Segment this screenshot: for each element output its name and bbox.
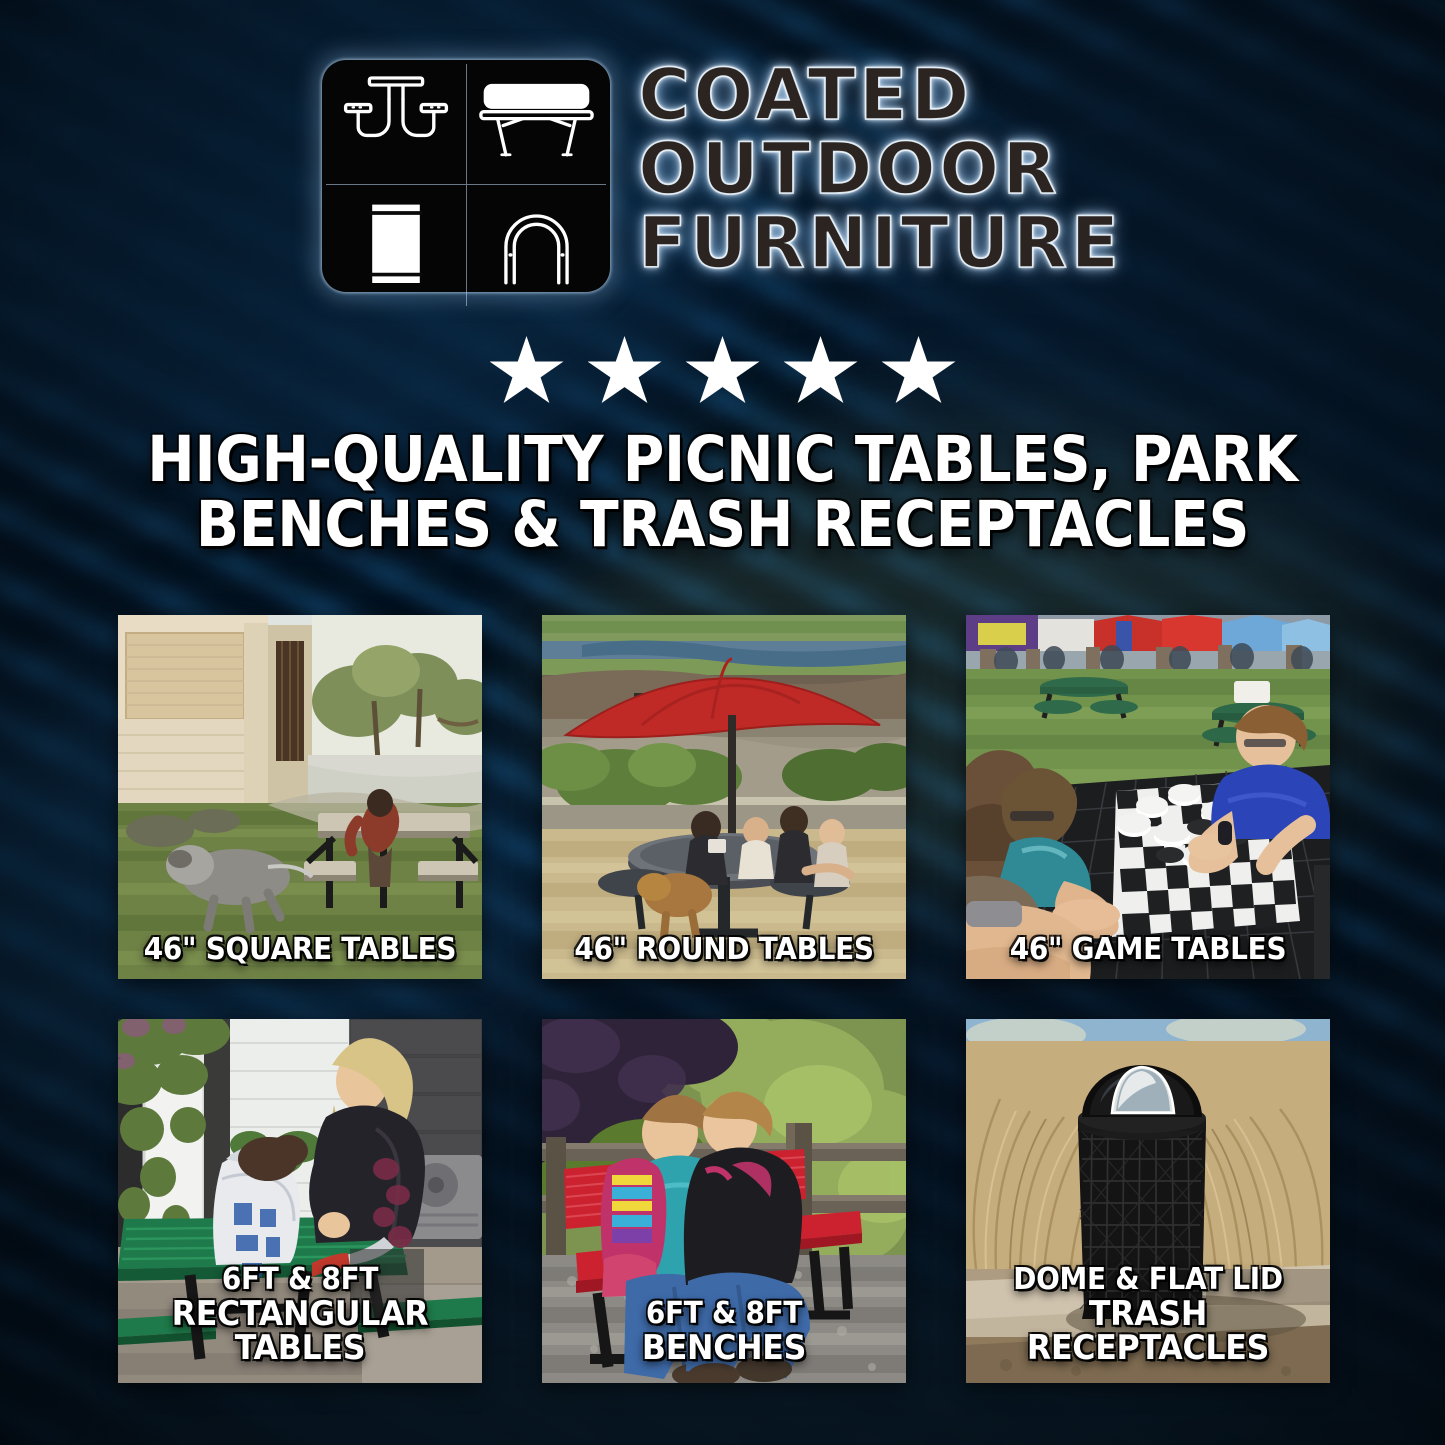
product-grid: 46" SQUARE TABLES bbox=[118, 615, 1330, 1383]
product-caption: 6FT & 8FT RECTANGULAR TABLES bbox=[136, 1265, 463, 1365]
product-tile-round-tables[interactable]: 46" ROUND TABLES bbox=[542, 615, 906, 979]
product-caption: 46" SQUARE TABLES bbox=[136, 935, 463, 965]
company-logo-mark bbox=[322, 60, 610, 292]
caption-line-2: TRASH RECEPTACLES bbox=[984, 1297, 1311, 1365]
product-tile-rectangular-tables[interactable]: 6FT & 8FT RECTANGULAR TABLES bbox=[118, 1019, 482, 1383]
poster-canvas: COATED OUTDOOR FURNITURE HIGH-QUALITY PI… bbox=[0, 0, 1445, 1445]
caption-line-1: 46" SQUARE TABLES bbox=[144, 932, 456, 967]
trash-receptacle-icon bbox=[326, 184, 466, 305]
page-title: HIGH-QUALITY PICNIC TABLES, PARK BENCHES… bbox=[126, 428, 1319, 558]
caption-line-1: 46" ROUND TABLES bbox=[574, 932, 873, 967]
brand-wordmark: COATED OUTDOOR FURNITURE bbox=[638, 60, 1122, 278]
caption-line-1: DOME & FLAT LID bbox=[1013, 1262, 1283, 1297]
star-icon bbox=[490, 336, 564, 408]
product-tile-game-tables[interactable]: 46" GAME TABLES bbox=[966, 615, 1330, 979]
headline-line-1: HIGH-QUALITY PICNIC TABLES, PARK bbox=[147, 423, 1297, 496]
brand-header: COATED OUTDOOR FURNITURE bbox=[0, 60, 1445, 292]
brand-line-1: COATED bbox=[638, 62, 1122, 130]
star-icon bbox=[686, 336, 760, 408]
caption-line-1: 46" GAME TABLES bbox=[1010, 932, 1287, 967]
product-photo bbox=[966, 615, 1330, 979]
bike-rack-arch-icon bbox=[466, 184, 606, 305]
product-caption: 6FT & 8FT BENCHES bbox=[560, 1299, 887, 1365]
product-tile-benches[interactable]: 6FT & 8FT BENCHES bbox=[542, 1019, 906, 1383]
picnic-table-icon bbox=[326, 64, 466, 184]
caption-line-2: RECTANGULAR TABLES bbox=[136, 1297, 463, 1365]
star-icon bbox=[588, 336, 662, 408]
star-icon bbox=[784, 336, 858, 408]
caption-line-1: 6FT & 8FT bbox=[646, 1296, 802, 1331]
star-icon bbox=[882, 336, 956, 408]
product-tile-square-tables[interactable]: 46" SQUARE TABLES bbox=[118, 615, 482, 979]
caption-line-2: BENCHES bbox=[560, 1331, 887, 1365]
caption-line-1: 6FT & 8FT bbox=[222, 1262, 378, 1297]
product-caption: 46" GAME TABLES bbox=[984, 935, 1311, 965]
product-caption: 46" ROUND TABLES bbox=[560, 935, 887, 965]
product-photo bbox=[118, 615, 482, 979]
headline-line-2: BENCHES & TRASH RECEPTACLES bbox=[126, 493, 1319, 558]
star-rating bbox=[0, 336, 1445, 408]
bench-icon bbox=[466, 64, 606, 184]
product-photo bbox=[542, 615, 906, 979]
brand-line-2: OUTDOOR bbox=[638, 136, 1122, 204]
product-caption: DOME & FLAT LID TRASH RECEPTACLES bbox=[984, 1265, 1311, 1365]
brand-line-3: FURNITURE bbox=[638, 210, 1122, 278]
product-tile-trash-receptacles[interactable]: DOME & FLAT LID TRASH RECEPTACLES bbox=[966, 1019, 1330, 1383]
